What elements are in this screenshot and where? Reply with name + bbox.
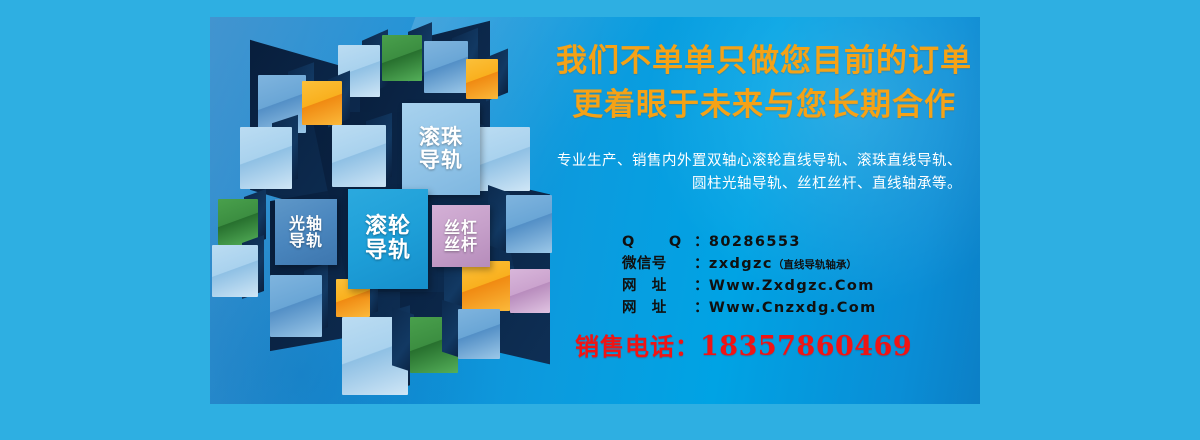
- cube-blue: [212, 245, 258, 297]
- contact-value-website-1[interactable]: Www.Zxdgzc.Com: [709, 275, 875, 297]
- banner-text-column: 我们不单单只做您目前的订单 更着眼于未来与您长期合作 专业生产、销售内外置双轴心…: [540, 17, 980, 404]
- cube-blue: [478, 127, 530, 191]
- product-label-sigang-sigan[interactable]: 丝杠 丝杆: [432, 205, 490, 267]
- page-root: 滚珠 导轨 光轴 导轨 滚轮 导轨 丝杠 丝杆: [0, 0, 1200, 440]
- product-label-line2: 丝杆: [444, 235, 478, 254]
- contact-value-qq[interactable]: 80286553: [709, 231, 801, 253]
- headline-line-2: 更着眼于未来与您长期合作: [548, 83, 980, 127]
- contact-row-qq: Q Q ： 80286553: [622, 231, 980, 253]
- contact-row-website-1: 网 址 ： Www.Zxdgzc.Com: [622, 275, 980, 297]
- sales-phone[interactable]: 销售电话：18357860469: [575, 327, 980, 362]
- cube-orange: [466, 59, 498, 99]
- product-label-text: 丝杠 丝杆: [444, 219, 478, 254]
- product-label-line1: 丝杠: [444, 218, 478, 237]
- cube-blue: [332, 125, 386, 187]
- product-label-line2: 导轨: [419, 148, 463, 172]
- product-label-line1: 光轴: [289, 214, 323, 233]
- contact-separator: ：: [694, 297, 709, 319]
- sales-phone-label: 销售电话：: [575, 333, 700, 361]
- cube-green: [382, 35, 422, 81]
- exploding-cubes-graphic: 滚珠 导轨 光轴 导轨 滚轮 导轨 丝杠 丝杆: [210, 17, 570, 404]
- contact-info-list: Q Q ： 80286553 微信号 ： zxdgzc （直线导轨轴承） 网 址…: [622, 231, 980, 319]
- cube-blue: [424, 41, 468, 93]
- product-label-gunzhu-daogui[interactable]: 滚珠 导轨: [402, 103, 480, 195]
- cube-blue: [270, 275, 322, 337]
- headline-line-1: 我们不单单只做您目前的订单: [548, 39, 980, 83]
- headline: 我们不单单只做您目前的订单 更着眼于未来与您长期合作: [548, 39, 980, 127]
- contact-note-wechat: （直线导轨轴承）: [773, 258, 857, 274]
- cube-orange: [302, 81, 342, 125]
- contact-label: 网 址: [622, 297, 694, 319]
- cube-orange: [462, 261, 510, 311]
- product-label-line2: 导轨: [289, 231, 323, 250]
- contact-row-wechat: 微信号 ： zxdgzc （直线导轨轴承）: [622, 253, 980, 275]
- product-label-line1: 滚轮: [365, 214, 411, 239]
- cube-blue: [240, 127, 292, 189]
- product-label-line2: 导轨: [365, 238, 411, 263]
- contact-label: 网 址: [622, 275, 694, 297]
- contact-value-wechat[interactable]: zxdgzc: [709, 253, 773, 275]
- contact-label: 微信号: [622, 253, 694, 275]
- sales-phone-number[interactable]: 18357860469: [700, 331, 912, 362]
- contact-value-website-2[interactable]: Www.Cnzxdg.Com: [709, 297, 877, 319]
- product-label-gunlun-daogui[interactable]: 滚轮 导轨: [348, 189, 428, 289]
- product-label-guangzhou-daogui[interactable]: 光轴 导轨: [275, 199, 337, 265]
- cube-blue: [458, 309, 500, 359]
- contact-separator: ：: [694, 253, 709, 275]
- promo-banner: 滚珠 导轨 光轴 导轨 滚轮 导轨 丝杠 丝杆: [210, 17, 980, 404]
- product-label-line1: 滚珠: [419, 125, 463, 149]
- contact-separator: ：: [694, 231, 709, 253]
- contact-separator: ：: [694, 275, 709, 297]
- company-description: 专业生产、销售内外置双轴心滚轮直线导轨、滚珠直线导轨、圆柱光轴导轨、丝杠丝杆、直…: [548, 150, 962, 197]
- product-label-text: 滚珠 导轨: [419, 126, 463, 171]
- contact-label: Q Q: [622, 231, 694, 253]
- contact-row-website-2: 网 址 ： Www.Cnzxdg.Com: [622, 297, 980, 319]
- product-label-text: 光轴 导轨: [289, 215, 323, 250]
- product-label-text: 滚轮 导轨: [365, 215, 411, 263]
